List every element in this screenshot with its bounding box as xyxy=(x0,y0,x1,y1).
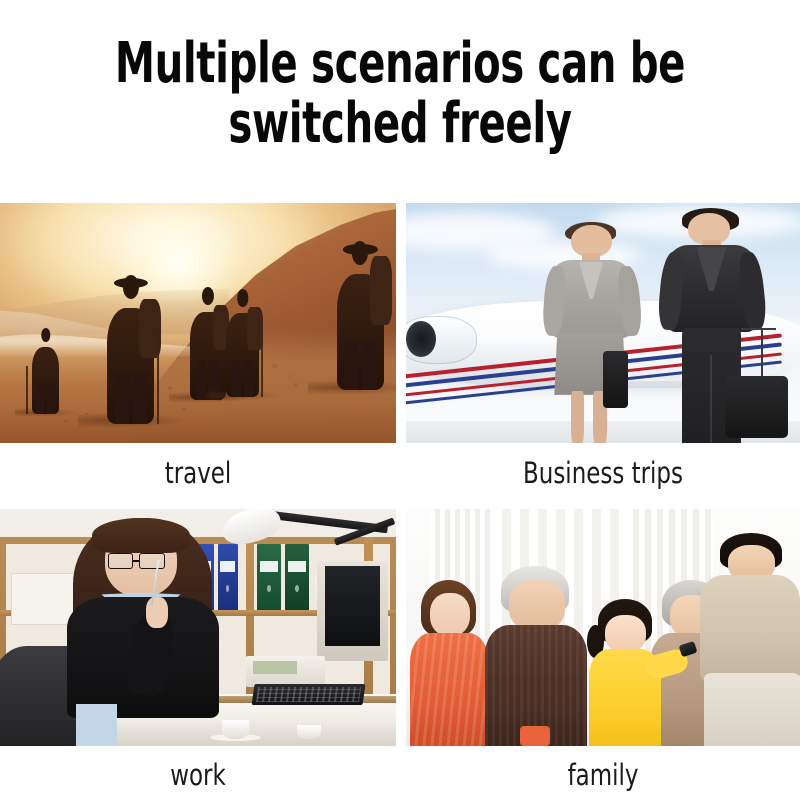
hiker-figure xyxy=(337,241,385,390)
page-title-line-2: switched freely xyxy=(80,94,720,154)
child-figure xyxy=(587,599,662,746)
businesswoman-grey-suit xyxy=(540,225,642,443)
keyboard-keys xyxy=(256,687,361,702)
page-title: Multiple scenarios can be switched freel… xyxy=(80,34,720,154)
monitor-screen xyxy=(325,566,380,647)
work-photo xyxy=(0,509,396,746)
hiker-figure xyxy=(226,289,260,397)
scenario-card-work[interactable]: work xyxy=(0,509,400,790)
coffee-cup xyxy=(222,720,250,739)
father-figure xyxy=(698,533,800,746)
page-title-line-1: Multiple scenarios can be xyxy=(80,34,720,94)
office-worker xyxy=(63,514,221,746)
scenario-row-1: travel xyxy=(0,203,800,488)
coffee-cup xyxy=(297,725,321,739)
caption-business-trips: Business trips xyxy=(430,443,777,488)
binder xyxy=(257,544,281,610)
rolling-suitcase xyxy=(725,376,788,438)
hiker-figure xyxy=(190,287,226,400)
binder xyxy=(285,544,309,610)
hiker-figure xyxy=(32,328,60,414)
mother-figure xyxy=(410,580,489,746)
hiker-figure xyxy=(107,275,155,424)
engine-intake xyxy=(406,321,436,357)
travel-photo xyxy=(0,203,396,443)
phone-display xyxy=(253,661,297,674)
glasses-lens xyxy=(139,553,164,569)
caption-family: family xyxy=(430,746,777,790)
promo-page: Multiple scenarios can be switched freel… xyxy=(0,0,800,800)
glasses-lens xyxy=(108,553,133,569)
family-photo xyxy=(406,509,800,746)
suitcase-handle-grip xyxy=(741,328,776,330)
caption-work: work xyxy=(24,746,372,790)
caption-travel: travel xyxy=(24,443,372,488)
scenario-card-business-trips[interactable]: Business trips xyxy=(400,203,800,488)
scenario-grid: travel xyxy=(0,203,800,790)
suitcase-handle xyxy=(761,328,763,381)
scenario-card-travel[interactable]: travel xyxy=(0,203,400,488)
business-trips-photo xyxy=(406,203,800,443)
briefcase xyxy=(603,351,628,408)
scenario-row-2: work xyxy=(0,509,800,790)
grandfather-figure xyxy=(485,566,587,746)
scenario-card-family[interactable]: family xyxy=(400,509,800,790)
